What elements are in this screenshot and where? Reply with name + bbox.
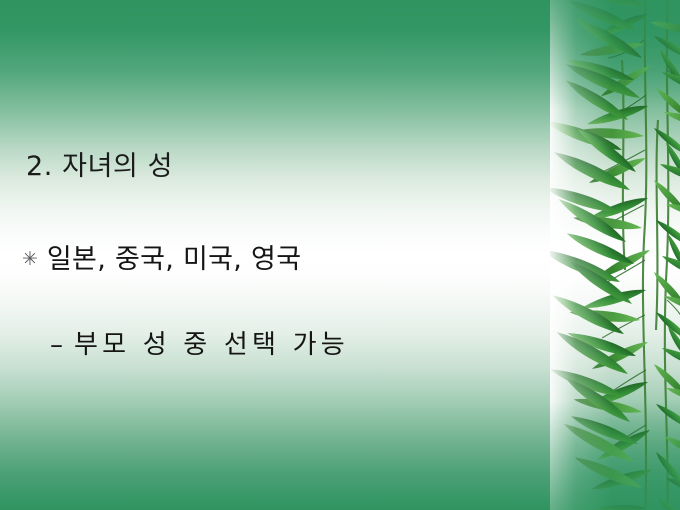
asterisk-bullet-icon: ✳ bbox=[22, 242, 38, 276]
slide-title: 2. 자녀의 성 bbox=[26, 150, 173, 184]
bamboo-leaves-decoration bbox=[550, 0, 680, 510]
sub-bullet-item: – 부모 성 중 선택 가능 bbox=[50, 328, 349, 362]
sub-bullet-item-label: 부모 성 중 선택 가능 bbox=[74, 328, 349, 362]
slide-content: 2. 자녀의 성 ✳ 일본, 중국, 미국, 영국 – 부모 성 중 선택 가능 bbox=[0, 0, 560, 510]
presentation-slide: 2. 자녀의 성 ✳ 일본, 중국, 미국, 영국 – 부모 성 중 선택 가능 bbox=[0, 0, 680, 510]
bullet-item-label: 일본, 중국, 미국, 영국 bbox=[47, 243, 301, 277]
dash-bullet-icon: – bbox=[50, 328, 63, 362]
bullet-item: ✳ 일본, 중국, 미국, 영국 bbox=[22, 243, 301, 277]
